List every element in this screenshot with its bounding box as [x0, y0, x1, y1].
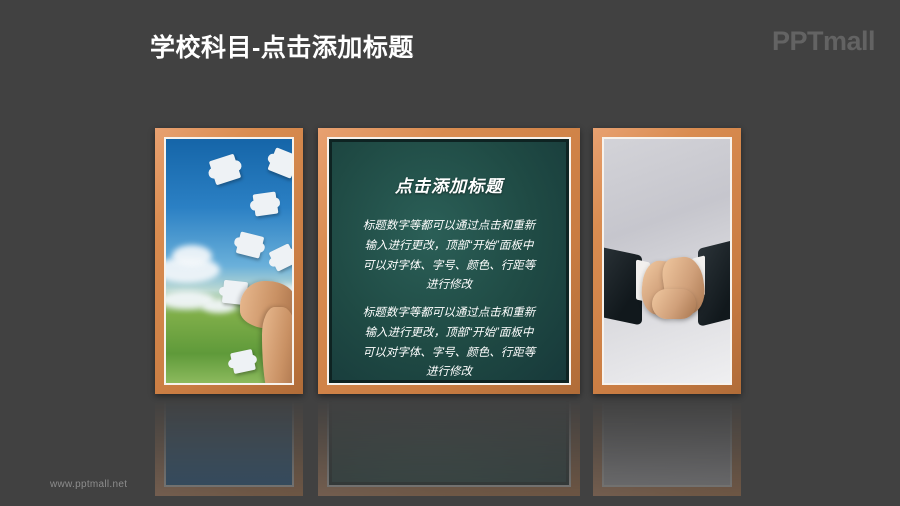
- board-paragraph-1: 标题数字等都可以通过点击和重新输入进行更改，顶部“开始”面板中可以对字体、字号、…: [332, 217, 566, 296]
- picture-frame-right: [593, 128, 741, 394]
- board-paragraph-2: 标题数字等都可以通过点击和重新输入进行更改，顶部“开始”面板中可以对字体、字号、…: [332, 304, 566, 383]
- picture-frame-left: [155, 128, 303, 394]
- footer-url: www.pptmall.net: [50, 479, 127, 490]
- board-heading: 点击添加标题: [332, 172, 566, 197]
- panel-puzzle-sky[interactable]: [155, 128, 303, 394]
- reflection-middle: [318, 396, 580, 496]
- panel-chalkboard[interactable]: 点击添加标题 标题数字等都可以通过点击和重新输入进行更改，顶部“开始”面板中可以…: [318, 128, 580, 394]
- handshake-photo: [604, 139, 730, 383]
- reflection-left: [155, 396, 303, 496]
- reflection-right: [593, 396, 741, 496]
- frames-stage: 点击添加标题 标题数字等都可以通过点击和重新输入进行更改，顶部“开始”面板中可以…: [0, 0, 900, 506]
- chalkboard-surface: 点击添加标题 标题数字等都可以通过点击和重新输入进行更改，顶部“开始”面板中可以…: [329, 139, 569, 383]
- frame-inner-left: [164, 137, 294, 385]
- panel-handshake[interactable]: [593, 128, 741, 394]
- frame-inner-middle: 点击添加标题 标题数字等都可以通过点击和重新输入进行更改，顶部“开始”面板中可以…: [327, 137, 571, 385]
- sky-photo: [166, 139, 292, 383]
- picture-frame-middle: 点击添加标题 标题数字等都可以通过点击和重新输入进行更改，顶部“开始”面板中可以…: [318, 128, 580, 394]
- frame-inner-right: [602, 137, 732, 385]
